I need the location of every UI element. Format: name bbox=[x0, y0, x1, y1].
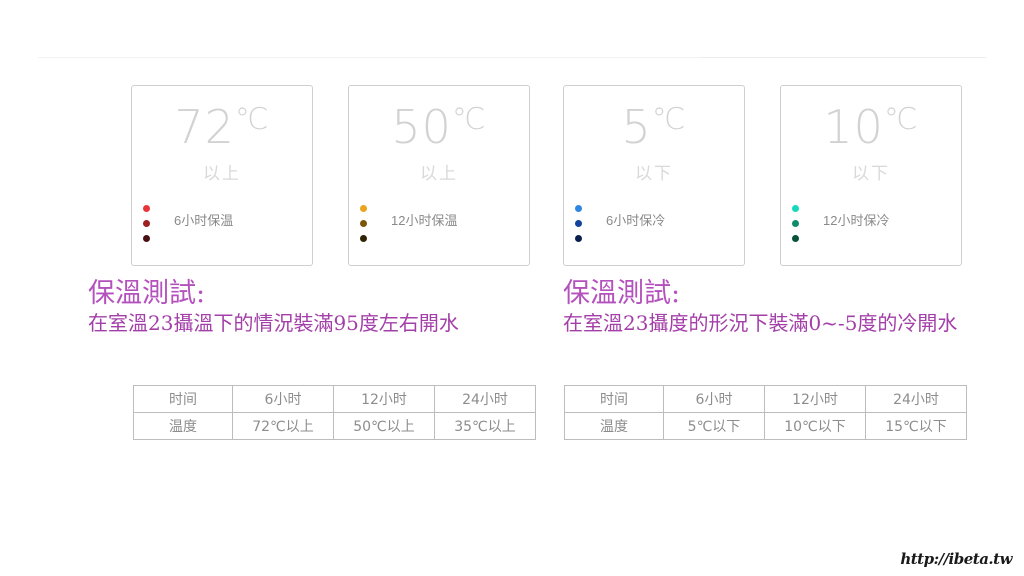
indicator-dots bbox=[143, 205, 153, 242]
indicator-dot-1 bbox=[792, 205, 799, 212]
spec-card-group: 72℃ 以上 6小时保温 50℃ 以上 12小时保温 5℃ 以下 bbox=[131, 85, 969, 268]
cell-temp-12h: 10℃以下 bbox=[765, 413, 866, 440]
indicator-dots bbox=[360, 205, 370, 242]
card-temperature-value: 10℃ bbox=[781, 104, 961, 150]
card-duration-label: 6小时保温 bbox=[174, 210, 233, 229]
indicator-dot-1 bbox=[575, 205, 582, 212]
cell-temp-24h: 35℃以上 bbox=[435, 413, 536, 440]
site-watermark: http://ibeta.tw bbox=[900, 550, 1012, 568]
cell-time-6h: 6小时 bbox=[664, 386, 765, 413]
indicator-dot-2 bbox=[575, 220, 582, 227]
degree-celsius-icon: ℃ bbox=[652, 102, 687, 137]
cold-test-heading: 保溫測試: bbox=[563, 278, 975, 310]
table-row: 温度 72℃以上 50℃以上 35℃以上 bbox=[134, 413, 536, 440]
indicator-dots bbox=[575, 205, 585, 242]
spec-card-10c: 10℃ 以下 12小时保冷 bbox=[780, 85, 962, 266]
card-temperature-value: 5℃ bbox=[564, 104, 744, 150]
cell-temp-6h: 72℃以上 bbox=[233, 413, 334, 440]
hot-test-heading: 保溫測試: bbox=[88, 278, 538, 310]
row-header-temperature: 温度 bbox=[565, 413, 664, 440]
card-temperature-number: 5 bbox=[622, 100, 652, 154]
cold-test-description: 在室溫23攝度的形況下裝滿0~-5度的冷開水 bbox=[563, 310, 975, 337]
indicator-dots bbox=[792, 205, 802, 242]
cell-time-6h: 6小时 bbox=[233, 386, 334, 413]
spec-card-72c: 72℃ 以上 6小时保温 bbox=[131, 85, 313, 266]
cell-time-24h: 24小时 bbox=[435, 386, 536, 413]
card-temperature-qualifier: 以下 bbox=[564, 159, 744, 184]
indicator-dot-3 bbox=[360, 235, 367, 242]
indicator-dot-1 bbox=[143, 205, 150, 212]
card-temperature-value: 72℃ bbox=[132, 104, 312, 150]
card-temperature-qualifier: 以上 bbox=[349, 159, 529, 184]
card-temperature-value: 50℃ bbox=[349, 104, 529, 150]
hot-test-text-block: 保溫測試: 在室溫23攝溫下的情況裝滿95度左右開水 bbox=[88, 278, 538, 337]
table-row: 时间 6小时 12小时 24小时 bbox=[134, 386, 536, 413]
cell-temp-6h: 5℃以下 bbox=[664, 413, 765, 440]
indicator-dot-2 bbox=[360, 220, 367, 227]
cold-test-text-block: 保溫測試: 在室溫23攝度的形況下裝滿0~-5度的冷開水 bbox=[563, 278, 975, 337]
spec-card-50c: 50℃ 以上 12小时保温 bbox=[348, 85, 530, 266]
degree-celsius-icon: ℃ bbox=[235, 102, 270, 137]
cell-time-24h: 24小时 bbox=[866, 386, 967, 413]
indicator-dot-3 bbox=[792, 235, 799, 242]
indicator-dot-2 bbox=[792, 220, 799, 227]
indicator-dot-3 bbox=[575, 235, 582, 242]
indicator-dot-2 bbox=[143, 220, 150, 227]
top-divider-line-right bbox=[700, 57, 986, 58]
card-temperature-qualifier: 以下 bbox=[781, 159, 961, 184]
card-duration-label: 12小时保温 bbox=[391, 210, 457, 229]
table-row: 时间 6小时 12小时 24小时 bbox=[565, 386, 967, 413]
degree-celsius-icon: ℃ bbox=[884, 102, 919, 137]
card-duration-label: 12小时保冷 bbox=[823, 210, 889, 229]
card-temperature-number: 72 bbox=[174, 100, 235, 154]
hot-test-description: 在室溫23攝溫下的情況裝滿95度左右開水 bbox=[88, 310, 538, 337]
spec-card-5c: 5℃ 以下 6小时保冷 bbox=[563, 85, 745, 266]
indicator-dot-1 bbox=[360, 205, 367, 212]
indicator-dot-3 bbox=[143, 235, 150, 242]
row-header-time: 时间 bbox=[134, 386, 233, 413]
hot-test-results-table: 时间 6小时 12小时 24小时 温度 72℃以上 50℃以上 35℃以上 bbox=[133, 385, 536, 440]
row-header-time: 时间 bbox=[565, 386, 664, 413]
cell-temp-24h: 15℃以下 bbox=[866, 413, 967, 440]
row-header-temperature: 温度 bbox=[134, 413, 233, 440]
table-row: 温度 5℃以下 10℃以下 15℃以下 bbox=[565, 413, 967, 440]
card-temperature-number: 10 bbox=[823, 100, 884, 154]
cell-time-12h: 12小时 bbox=[334, 386, 435, 413]
card-temperature-qualifier: 以上 bbox=[132, 159, 312, 184]
card-temperature-number: 50 bbox=[391, 100, 452, 154]
cell-time-12h: 12小时 bbox=[765, 386, 866, 413]
card-duration-label: 6小时保冷 bbox=[606, 210, 665, 229]
slide-canvas: 72℃ 以上 6小时保温 50℃ 以上 12小时保温 5℃ 以下 bbox=[0, 0, 1024, 576]
cold-test-results-table: 时间 6小时 12小时 24小时 温度 5℃以下 10℃以下 15℃以下 bbox=[564, 385, 967, 440]
degree-celsius-icon: ℃ bbox=[452, 102, 487, 137]
cell-temp-12h: 50℃以上 bbox=[334, 413, 435, 440]
